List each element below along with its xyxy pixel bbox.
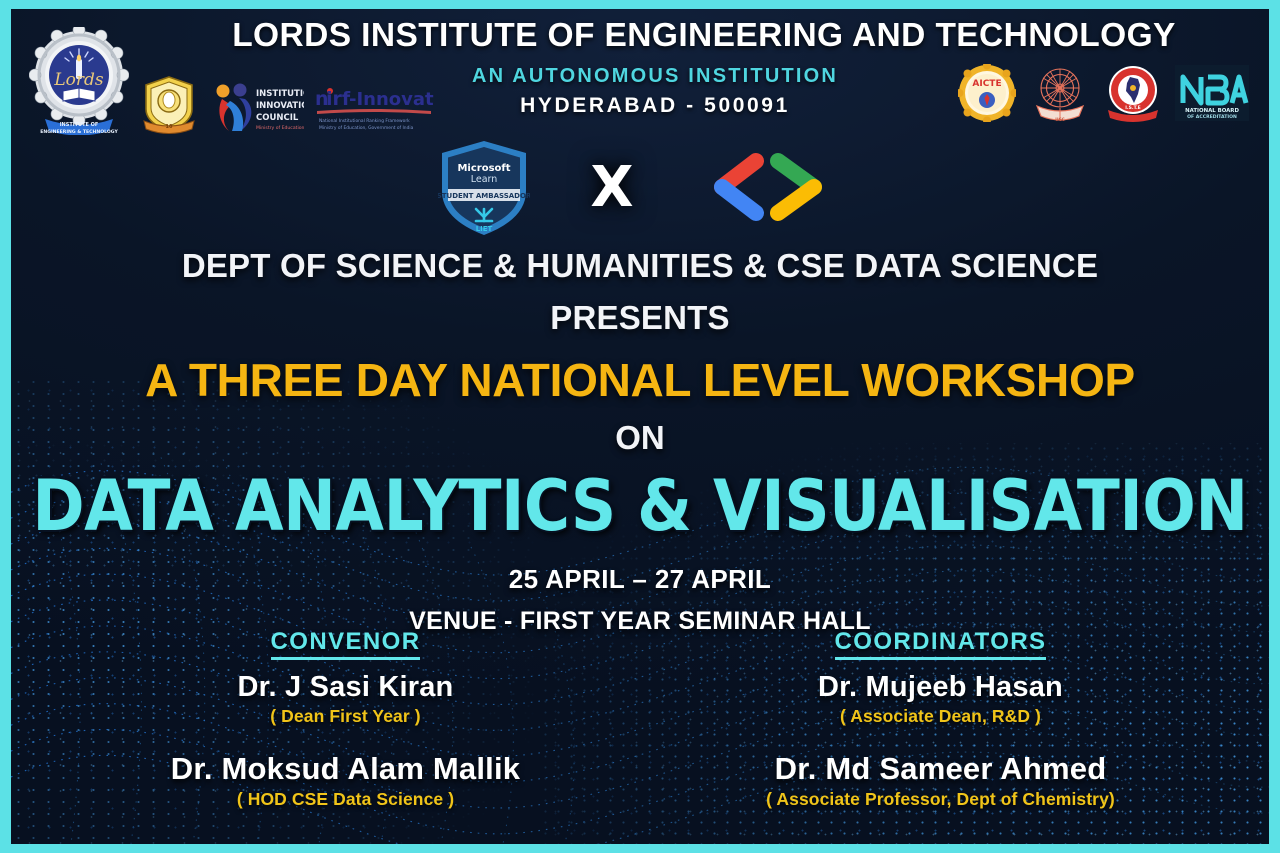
google-developer-groups-logo bbox=[694, 149, 842, 227]
department-line: DEPT OF SCIENCE & HUMANITIES & CSE DATA … bbox=[11, 247, 1269, 285]
microsoft-learn-student-ambassador-badge: Microsoft Learn STUDENT AMBASSADOR LIET bbox=[438, 139, 530, 237]
coordinator-member: Dr. Mujeeb Hasan ( Associate Dean, R&D ) bbox=[652, 671, 1229, 727]
aicte-logo: AICTE bbox=[958, 64, 1016, 122]
person-name: Dr. J Sasi Kiran bbox=[51, 671, 640, 704]
coordinator-member: Dr. Md Sameer Ahmed ( Associate Professo… bbox=[652, 751, 1229, 810]
iso-accreditation-logo: 10 bbox=[138, 73, 200, 135]
convenor-column: CONVENOR Dr. J Sasi Kiran ( Dean First Y… bbox=[51, 628, 640, 810]
svg-text:ENGINEERING & TECHNOLOGY: ENGINEERING & TECHNOLOGY bbox=[40, 129, 118, 135]
poster-canvas: Lords INSTITUTE OF ENGINEERING & TECHNOL… bbox=[11, 9, 1269, 844]
svg-text:Lords: Lords bbox=[53, 70, 104, 90]
poster-frame: Lords INSTITUTE OF ENGINEERING & TECHNOL… bbox=[0, 0, 1280, 853]
workshop-topic: DATA ANALYTICS & VISUALISATION bbox=[11, 465, 1269, 547]
accreditation-logos-right: AICTE bbox=[958, 64, 1249, 122]
svg-text:INSTITUTE OF: INSTITUTE OF bbox=[60, 122, 99, 128]
autonomous-status: AN AUTONOMOUS INSTITUTION bbox=[341, 65, 969, 88]
coordinators-heading: COORDINATORS bbox=[835, 628, 1047, 660]
lords-institute-logo: Lords INSTITUTE OF ENGINEERING & TECHNOL… bbox=[29, 27, 129, 135]
institutions-innovation-council-logo: INSTITUTION'S INNOVATION COUNCIL Ministr… bbox=[209, 79, 304, 135]
poster-header: Lords INSTITUTE OF ENGINEERING & TECHNOL… bbox=[11, 9, 1269, 137]
person-name: Dr. Moksud Alam Mallik bbox=[51, 751, 640, 787]
organisers-section: CONVENOR Dr. J Sasi Kiran ( Dean First Y… bbox=[11, 628, 1269, 810]
svg-text:10: 10 bbox=[166, 124, 173, 130]
svg-text:OF ACCREDITATION: OF ACCREDITATION bbox=[1187, 114, 1237, 120]
ms-learn-band: STUDENT AMBASSADOR bbox=[438, 192, 530, 200]
ms-learn-line1: Microsoft bbox=[458, 163, 511, 174]
coordinators-column: COORDINATORS Dr. Mujeeb Hasan ( Associat… bbox=[640, 628, 1229, 810]
event-dates: 25 APRIL – 27 APRIL bbox=[11, 564, 1269, 595]
presents-label: PRESENTS bbox=[11, 299, 1269, 337]
svg-text:UGC: UGC bbox=[1055, 117, 1065, 122]
person-title: ( Associate Professor, Dept of Chemistry… bbox=[652, 789, 1229, 810]
collaboration-x-symbol: X bbox=[590, 160, 633, 216]
institution-city: HYDERABAD - 500091 bbox=[341, 94, 969, 118]
ms-learn-line2: Learn bbox=[471, 174, 498, 185]
svg-text:Ministry of Education, Governm: Ministry of Education, Government of Ind… bbox=[319, 125, 414, 131]
convenor-heading: CONVENOR bbox=[271, 628, 421, 660]
person-title: ( HOD CSE Data Science ) bbox=[51, 789, 640, 810]
person-title: ( Dean First Year ) bbox=[51, 706, 640, 727]
ms-learn-school: LIET bbox=[476, 225, 493, 233]
iste-logo: I.S.T.E bbox=[1104, 64, 1162, 122]
institution-name: LORDS INSTITUTE OF ENGINEERING AND TECHN… bbox=[151, 17, 1257, 55]
svg-text:Ministry of Education: Ministry of Education bbox=[256, 125, 304, 131]
svg-text:AICTE: AICTE bbox=[972, 79, 1001, 89]
person-name: Dr. Mujeeb Hasan bbox=[652, 671, 1229, 704]
svg-text:I.S.T.E: I.S.T.E bbox=[1125, 105, 1141, 111]
convenor-member: Dr. Moksud Alam Mallik ( HOD CSE Data Sc… bbox=[51, 751, 640, 810]
person-name: Dr. Md Sameer Ahmed bbox=[652, 751, 1229, 787]
collaboration-row: Microsoft Learn STUDENT AMBASSADOR LIET … bbox=[11, 137, 1269, 239]
svg-text:INSTITUTION'S: INSTITUTION'S bbox=[256, 89, 304, 99]
person-title: ( Associate Dean, R&D ) bbox=[652, 706, 1229, 727]
svg-text:NATIONAL BOARD: NATIONAL BOARD bbox=[1185, 108, 1239, 114]
convenor-member: Dr. J Sasi Kiran ( Dean First Year ) bbox=[51, 671, 640, 727]
workshop-title: A THREE DAY NATIONAL LEVEL WORKSHOP bbox=[11, 353, 1269, 407]
nba-logo: NATIONAL BOARD OF ACCREDITATION bbox=[1175, 65, 1249, 121]
poster-main: DEPT OF SCIENCE & HUMANITIES & CSE DATA … bbox=[11, 239, 1269, 636]
ugc-logo: UGC bbox=[1029, 64, 1091, 122]
svg-text:National Institutional Ranking: National Institutional Ranking Framework bbox=[319, 118, 410, 124]
svg-text:COUNCIL: COUNCIL bbox=[256, 113, 299, 123]
on-label: ON bbox=[11, 419, 1269, 457]
svg-text:INNOVATION: INNOVATION bbox=[256, 101, 304, 111]
